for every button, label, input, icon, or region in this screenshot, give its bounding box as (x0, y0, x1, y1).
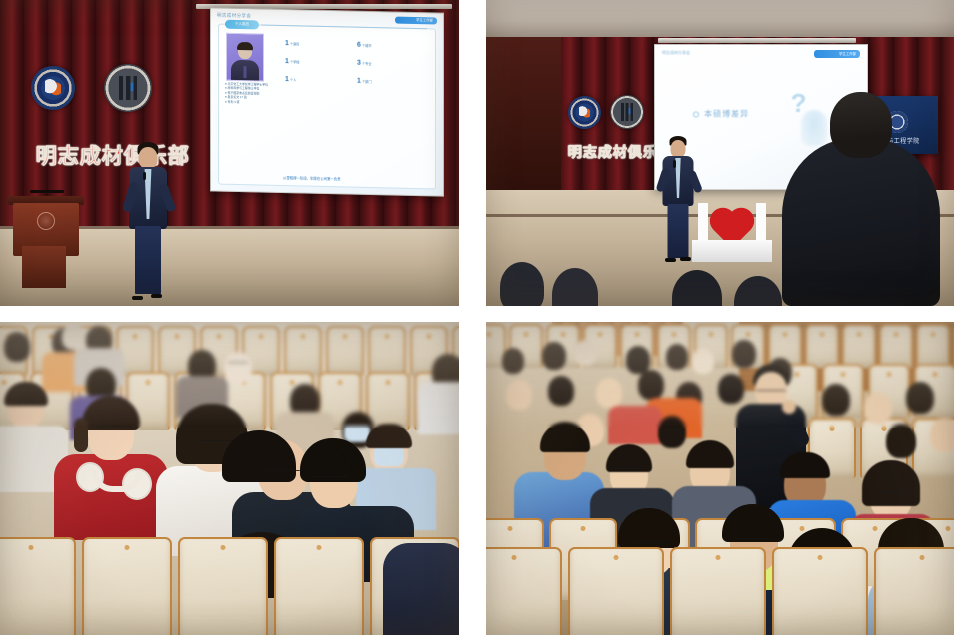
standing-student-hand (782, 400, 796, 414)
side-wall-panel (486, 37, 561, 214)
audience-head (548, 376, 574, 406)
speaker-portrait-image (226, 33, 264, 82)
audience-head (864, 392, 892, 424)
audience-head (822, 384, 850, 416)
speaker-figure (118, 142, 178, 300)
stat-item: 1个身份 (285, 40, 357, 49)
seat (178, 537, 268, 635)
attendee-head (830, 92, 892, 158)
audience-hair (862, 460, 920, 506)
portrait-tie (244, 66, 247, 78)
seat (82, 537, 172, 635)
face-mask (374, 448, 404, 466)
glasses-icon (228, 362, 248, 366)
photo-panel-bottom-right (486, 322, 954, 635)
audience-head (4, 332, 30, 362)
audience-head (906, 382, 934, 414)
university-seal-icon (568, 96, 601, 129)
stat-item: 1个学校 (285, 58, 357, 67)
audience-body-red-hoodie (54, 454, 168, 540)
letter-i-left (698, 203, 708, 243)
speaker-head (139, 147, 158, 169)
prop-pedestal (692, 240, 772, 262)
slide-brand-logo: 学生工作部 (814, 50, 860, 58)
club-seal-icon (610, 95, 644, 129)
list-item: ● 专利 4 项 (225, 99, 277, 105)
glasses-icon (262, 470, 300, 474)
slide-section-pill: 个人简历 (225, 20, 259, 30)
photo-panel-bottom-left (0, 322, 459, 635)
glasses-icon (616, 468, 644, 472)
seat (284, 326, 322, 376)
letter-i-right (756, 203, 766, 243)
seat-row-front (486, 547, 954, 635)
seat (486, 547, 562, 635)
seat (874, 547, 954, 635)
speaker-shoe-left (665, 258, 676, 262)
microphone-bar (30, 190, 64, 193)
stat-label: 个身份 (290, 42, 300, 46)
slide-stats-grid: 1个身份 6个城市 1个学校 3个专业 1个人 1个部门 (285, 40, 429, 86)
seat (916, 324, 950, 368)
photo-collage: 明志成材俱乐部 明志成材分享会 学生工作部 个人简历 (0, 0, 954, 639)
foreground-attendee (782, 138, 940, 306)
university-seal-icon (31, 66, 75, 110)
audience-hair (686, 440, 734, 468)
glasses-icon (736, 538, 772, 542)
speaker-legs (135, 226, 161, 294)
seat (368, 326, 406, 376)
glasses-icon (876, 492, 906, 496)
audience-head (574, 340, 596, 366)
stat-label: 个部门 (362, 80, 372, 84)
stat-value: 6 (357, 42, 361, 49)
audience-head (930, 418, 954, 452)
seat (842, 324, 876, 368)
stat-item: 1个人 (285, 76, 357, 85)
audience-ponytail (74, 418, 88, 452)
glasses-icon (98, 426, 132, 430)
audience-head (224, 352, 252, 384)
audience-head (62, 324, 86, 350)
stat-label: 个人 (290, 78, 296, 82)
audience-head-silhouette (500, 262, 544, 306)
projection-screen: 明志成材分享会 学生工作部 个人简历 ● 北京化工大学化学工程学士学位 (210, 7, 444, 196)
handheld-microphone (143, 172, 146, 180)
stat-item: 1个部门 (357, 78, 429, 87)
ceiling (486, 0, 954, 37)
seat (274, 537, 364, 635)
slide-content: 明志成材分享会 学生工作部 个人简历 ● 北京化工大学化学工程学士学位 (211, 8, 443, 195)
audience-head (542, 342, 566, 370)
foreground-shoulder (383, 543, 459, 635)
slide-card: 个人简历 ● 北京化工大学化学工程学士学位 ● 材料科学与工程博士学位 ● 现于… (218, 24, 436, 190)
lectern-emblem-icon (37, 212, 55, 230)
slide-bullet-list: ● 北京化工大学化学工程学士学位 ● 材料科学与工程博士学位 ● 现于国家重点实… (225, 82, 277, 105)
slide-headline-text: 本硕博差异 (704, 110, 749, 119)
audience-scene-1 (0, 322, 459, 635)
speaker-legs (668, 204, 689, 258)
seat (670, 547, 766, 635)
stat-value: 1 (285, 76, 289, 83)
portrait-hair (237, 42, 253, 50)
stat-label: 个学校 (290, 60, 300, 64)
stat-item: 3个专业 (357, 60, 429, 69)
club-seal-icon (104, 64, 152, 112)
audience-head (692, 348, 714, 374)
audience-body-red (608, 406, 662, 444)
slide-footer-note: 从里程碑一阶段，到现在公司第一负责 (283, 175, 430, 183)
lectern-base (22, 246, 66, 288)
audience-head (886, 424, 916, 458)
audience-head (502, 348, 524, 374)
stage-scene-2: 明志成材俱乐部 明志成材分享会 学生工作部 ? 本硕博差异 科学与工程学院 (486, 0, 954, 306)
seat (0, 537, 76, 635)
speaker-shoe-right (680, 257, 691, 261)
speaker-shoe-right (151, 294, 162, 298)
stat-label: 个专业 (362, 62, 372, 66)
audience-head (596, 378, 622, 408)
bullet-dot-icon (693, 112, 699, 118)
audience-head (506, 380, 532, 410)
handheld-microphone (673, 160, 676, 168)
i-love-heart-prop (692, 200, 772, 262)
seat (326, 326, 364, 376)
screen-rail (658, 38, 856, 43)
stat-value: 1 (357, 78, 361, 85)
glasses-icon (632, 542, 668, 546)
lectern (8, 196, 84, 288)
stage-scene-1: 明志成材俱乐部 明志成材分享会 学生工作部 个人简历 (0, 0, 459, 306)
stat-item: 6个城市 (357, 42, 429, 51)
stat-label: 个城市 (362, 44, 372, 48)
seat (568, 547, 664, 635)
speaker-shoe-left (132, 296, 143, 300)
slide-divider (261, 25, 427, 30)
audience-body (418, 382, 459, 434)
slide-headline: 本硕博差异 (693, 109, 749, 120)
photo-panel-top-right: 明志成材俱乐部 明志成材分享会 学生工作部 ? 本硕博差异 科学与工程学院 (486, 0, 954, 306)
stat-value: 1 (285, 40, 289, 47)
seat (879, 324, 913, 368)
stat-value: 3 (357, 60, 361, 67)
audience-head (666, 344, 688, 370)
audience-head (658, 416, 686, 448)
photo-panel-top-left: 明志成材俱乐部 明志成材分享会 学生工作部 个人简历 (0, 0, 459, 306)
question-mark-icon: ? (791, 88, 807, 119)
seat (805, 324, 839, 368)
glasses-icon (14, 402, 40, 406)
audience-scene-2 (486, 322, 954, 635)
seat (772, 547, 868, 635)
glasses-icon (312, 476, 348, 480)
glasses-icon (756, 390, 786, 394)
slide-brand-logo: 学生工作部 (395, 17, 437, 25)
audience-head (638, 370, 664, 400)
stat-value: 1 (285, 58, 289, 65)
